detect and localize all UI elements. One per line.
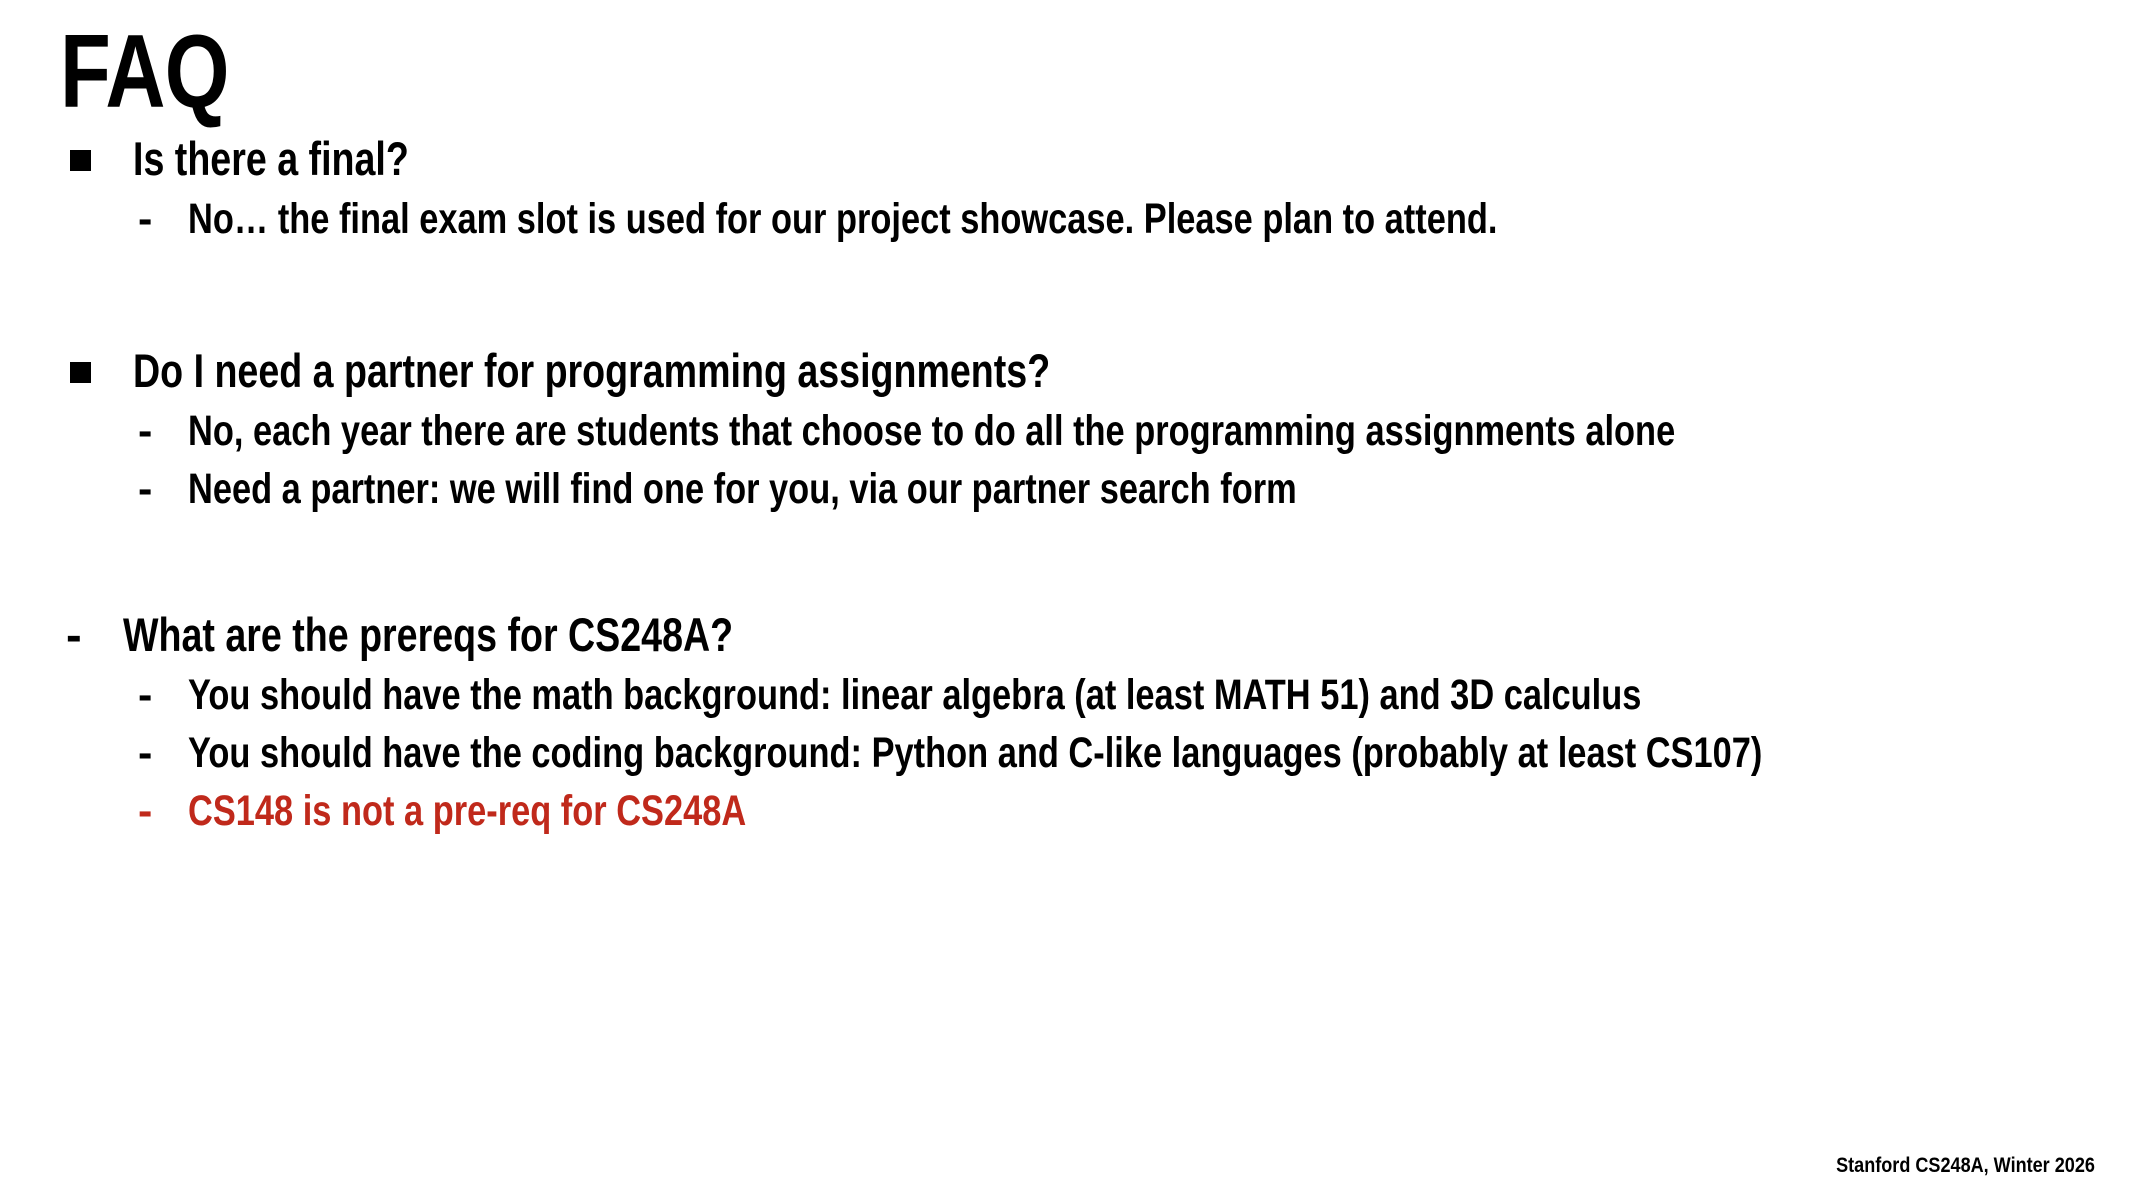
list-item-label: Is there a final? — [133, 128, 409, 190]
list-item-highlighted: - CS148 is not a pre-req for CS248A — [0, 782, 2133, 840]
square-bullet-icon — [70, 362, 91, 383]
list-item-label: Do I need a partner for programming assi… — [133, 340, 1050, 402]
dash-bullet-icon: - — [138, 724, 152, 782]
slide-footer: Stanford CS248A, Winter 2026 — [1836, 1154, 2095, 1178]
list-item-label: CS148 is not a pre-req for CS248A — [188, 782, 746, 840]
list-item: - You should have the math background: l… — [0, 666, 2133, 724]
list-item: Is there a final? — [0, 128, 2133, 190]
slide-canvas: FAQ Is there a final? - No… the final ex… — [0, 0, 2133, 1200]
list-item: - No, each year there are students that … — [0, 402, 2133, 460]
list-item-label: What are the prereqs for CS248A? — [123, 604, 733, 666]
list-item: - What are the prereqs for CS248A? — [0, 604, 2133, 666]
list-item-label: You should have the math background: lin… — [188, 666, 1641, 724]
dash-bullet-icon: - — [138, 460, 152, 518]
dash-bullet-icon: - — [138, 190, 152, 248]
bullet-list: Is there a final? - No… the final exam s… — [0, 128, 2133, 840]
dash-bullet-icon: - — [138, 666, 152, 724]
list-item: - Need a partner: we will find one for y… — [0, 460, 2133, 518]
group-spacer — [0, 248, 2133, 340]
list-item: - You should have the coding background:… — [0, 724, 2133, 782]
list-item-label: You should have the coding background: P… — [188, 724, 1762, 782]
list-item-label: Need a partner: we will find one for you… — [188, 460, 1297, 518]
group-spacer — [0, 518, 2133, 604]
square-bullet-icon — [70, 150, 91, 171]
list-item-label: No, each year there are students that ch… — [188, 402, 1675, 460]
list-item: Do I need a partner for programming assi… — [0, 340, 2133, 402]
page-title: FAQ — [60, 18, 229, 127]
dash-bullet-icon: - — [138, 782, 152, 840]
list-item: - No… the final exam slot is used for ou… — [0, 190, 2133, 248]
list-item-label: No… the final exam slot is used for our … — [188, 190, 1497, 248]
dash-bullet-icon: - — [66, 604, 82, 666]
dash-bullet-icon: - — [138, 402, 152, 460]
